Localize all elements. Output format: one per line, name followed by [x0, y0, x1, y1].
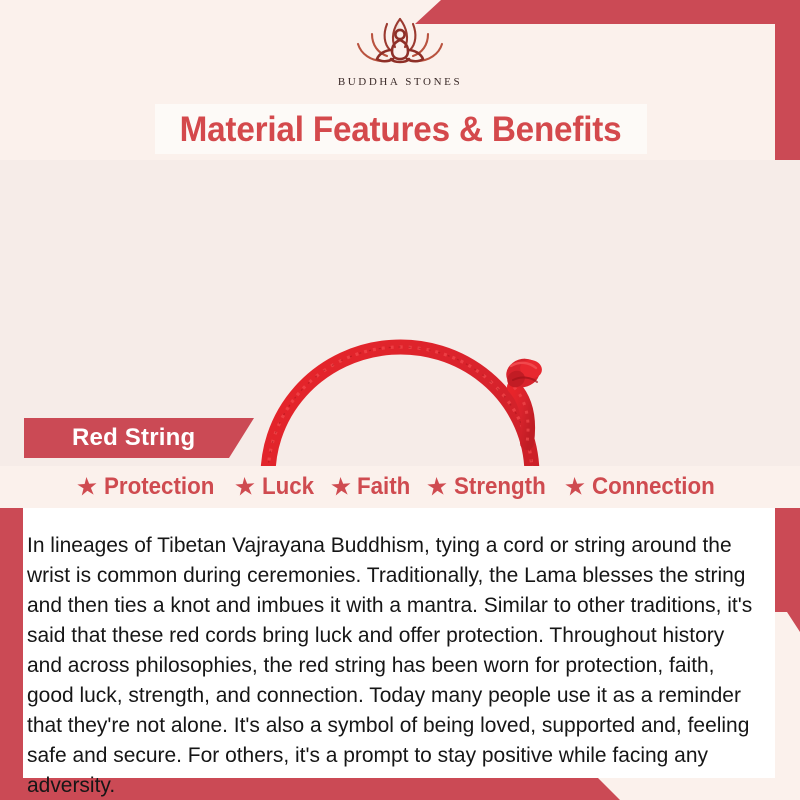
feature-label: Protection	[104, 475, 214, 499]
product-ribbon-label: Red String	[24, 424, 195, 452]
description-panel: In lineages of Tibetan Vajrayana Buddhis…	[23, 508, 775, 778]
description-text: In lineages of Tibetan Vajrayana Buddhis…	[27, 530, 756, 800]
page-title: Material Features & Benefits	[180, 112, 622, 147]
star-icon: ★	[329, 474, 353, 501]
feature-list: ★ Protection ★ Luck ★ Faith ★ Strength ★…	[0, 466, 800, 508]
product-ribbon: Red String	[24, 418, 254, 458]
star-icon: ★	[564, 474, 588, 501]
decorative-band-left-lower	[0, 514, 23, 770]
brand-logo: BUDDHA STONES	[0, 12, 800, 100]
star-icon: ★	[233, 474, 257, 501]
lotus-meditation-logo-icon	[325, 12, 475, 74]
feature-item-luck: ★ Luck	[234, 475, 317, 500]
feature-item-faith: ★ Faith	[330, 475, 415, 500]
feature-label: Strength	[454, 475, 546, 499]
star-icon: ★	[75, 474, 99, 501]
feature-label: Connection	[592, 475, 715, 499]
feature-label: Faith	[357, 475, 410, 499]
page-title-banner: Material Features & Benefits	[155, 104, 647, 154]
star-icon: ★	[426, 474, 450, 501]
brand-name: BUDDHA STONES	[338, 76, 462, 88]
feature-item-strength: ★ Strength	[426, 475, 552, 500]
feature-item-protection: ★ Protection	[76, 475, 222, 500]
feature-item-connection: ★ Connection	[564, 475, 723, 500]
feature-label: Luck	[262, 475, 314, 499]
infographic-page: BUDDHA STONES Material Features & Benefi…	[0, 0, 800, 800]
